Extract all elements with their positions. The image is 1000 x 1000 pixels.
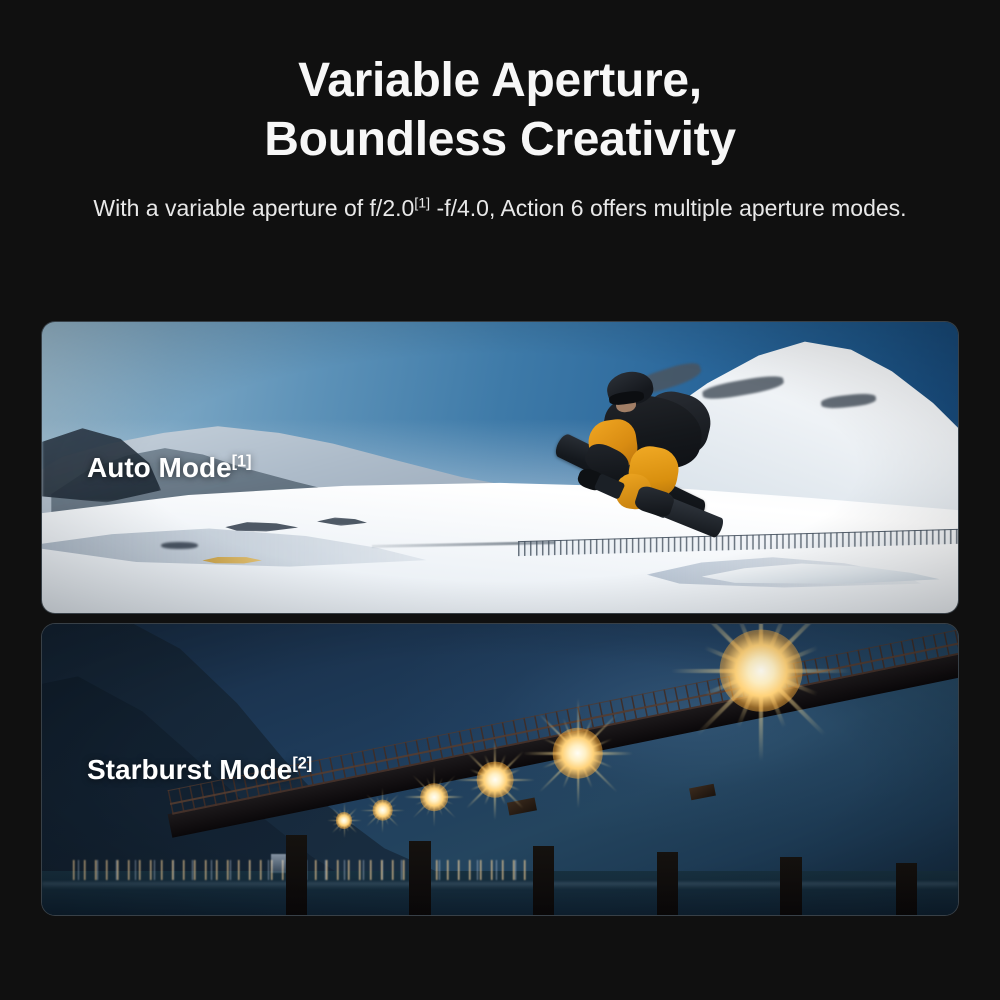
lamp-core-2	[372, 800, 393, 821]
page-subtitle: With a variable aperture of f/2.0[1] -f/…	[70, 191, 930, 225]
pier-piling-1	[286, 835, 307, 915]
mode-label-auto-text: Auto Mode	[87, 452, 232, 483]
subtitle-footnote-marker-1: [1]	[414, 195, 430, 211]
mode-label-auto: Auto Mode[1]	[87, 452, 251, 484]
snowboarder-figure	[560, 363, 743, 555]
subtitle-text-part-1: With a variable aperture of f/2.0	[93, 195, 414, 221]
mode-label-starburst-footnote: [2]	[292, 754, 312, 772]
pier-piling-2	[409, 841, 430, 915]
page-title-line-1: Variable Aperture,	[0, 52, 1000, 111]
mode-label-auto-footnote: [1]	[232, 452, 252, 470]
page-title: Variable Aperture, Boundless Creativity	[0, 0, 1000, 169]
mode-card-starburst[interactable]: Starburst Mode[2]	[42, 624, 958, 915]
lamp-core-5	[553, 728, 604, 779]
pier-piling-6	[896, 863, 917, 915]
pier-piling-3	[533, 846, 554, 915]
subtitle-text-part-2: -f/4.0, Action 6 offers multiple apertur…	[430, 195, 906, 221]
page-title-line-2: Boundless Creativity	[0, 111, 1000, 170]
lamp-core-4	[477, 761, 514, 798]
mode-label-starburst-text: Starburst Mode	[87, 754, 292, 785]
rock-patch-3	[161, 542, 198, 549]
lamp-core-3	[420, 783, 448, 811]
mode-card-auto[interactable]: Auto Mode[1]	[42, 322, 958, 613]
pier-piling-5	[780, 857, 801, 915]
lamp-core-6	[720, 629, 803, 712]
pier-equipment-box-2	[689, 784, 716, 800]
mode-label-starburst: Starburst Mode[2]	[87, 754, 312, 786]
mode-card-list: Auto Mode[1]	[42, 322, 958, 915]
pier-piling-4	[657, 852, 678, 915]
